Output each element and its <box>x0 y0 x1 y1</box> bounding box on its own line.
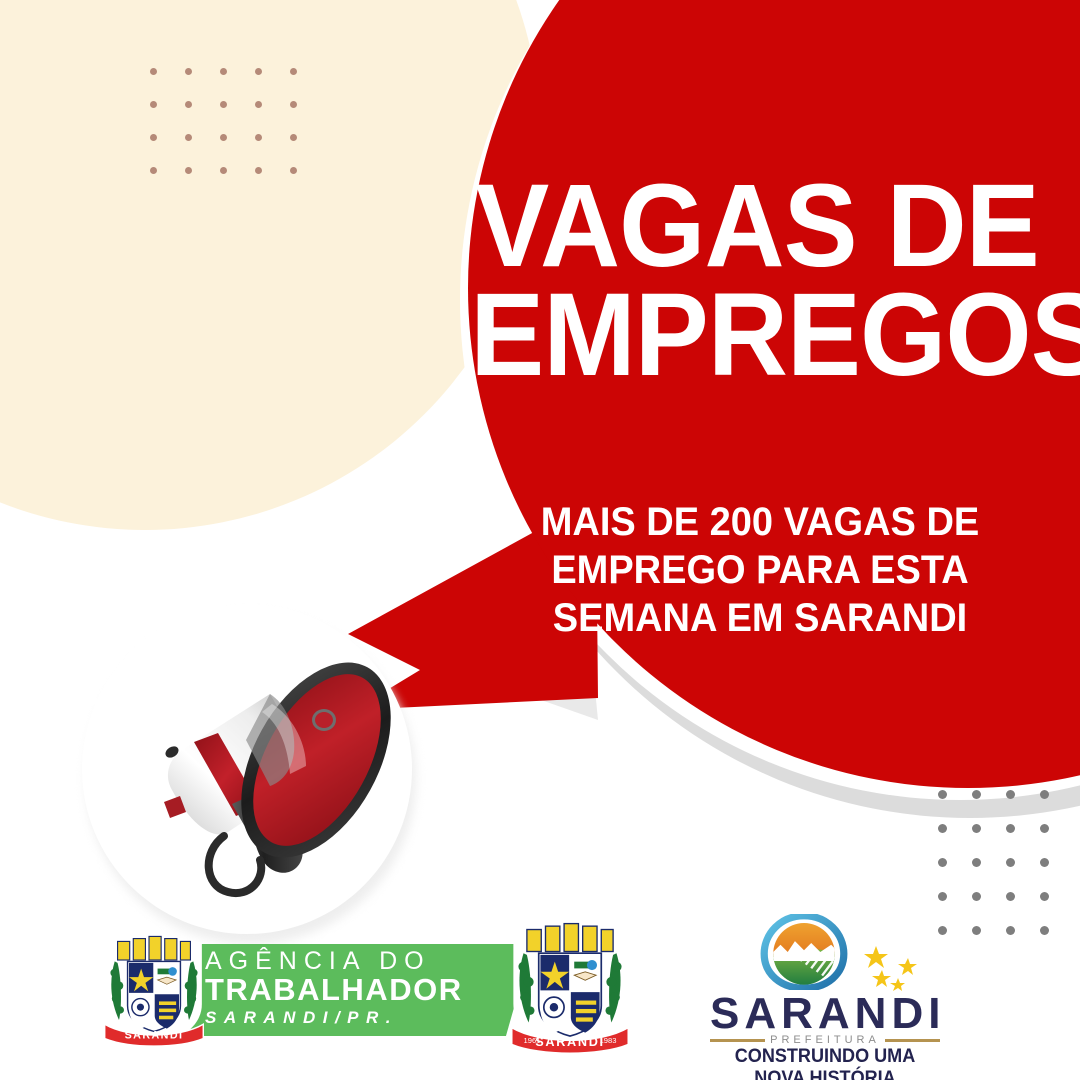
subhead-line-3: SEMANA EM SARANDI <box>485 594 1036 642</box>
dot <box>972 858 981 867</box>
dot <box>185 167 192 174</box>
sarandi-coat-of-arms-icon: 1961 1983 SARANDI <box>495 916 645 1058</box>
dot <box>1006 824 1015 833</box>
prefeitura-kicker-row: PREFEITURA <box>710 1034 940 1046</box>
logo-prefeitura-sarandi: SARANDI PREFEITURA CONSTRUINDO UMA NOVA … <box>710 914 950 1064</box>
subhead-line-2: EMPREGO PARA ESTA <box>485 546 1036 594</box>
dot <box>220 101 227 108</box>
dot <box>150 134 157 141</box>
prefeitura-slogan: CONSTRUINDO UMA NOVA HISTÓRIA <box>716 1046 935 1080</box>
dot <box>290 101 297 108</box>
dot <box>185 101 192 108</box>
dot <box>938 858 947 867</box>
poster-canvas: VAGAS DE EMPREGOS MAIS DE 200 VAGAS DE E… <box>0 0 1080 1080</box>
dot <box>972 824 981 833</box>
four-stars-decoration <box>860 944 930 994</box>
megaphone-icon <box>120 620 420 910</box>
poster-headline: VAGAS DE EMPREGOS <box>470 172 1043 389</box>
gold-rule-right <box>885 1039 940 1042</box>
dot <box>1006 858 1015 867</box>
dot <box>938 790 947 799</box>
dot-grid-top-left <box>150 68 325 200</box>
dot <box>1040 790 1049 799</box>
dot <box>290 134 297 141</box>
poster-subheadline: MAIS DE 200 VAGAS DE EMPREGO PARA ESTA S… <box>485 498 1036 642</box>
crest-ribbon-label: SARANDI <box>535 1035 605 1049</box>
dot <box>290 68 297 75</box>
sarandi-coat-of-arms-icon: SARANDI <box>100 930 208 1050</box>
agencia-text-block: AGÊNCIA DO TRABALHADOR SARANDI/PR. <box>205 948 525 1028</box>
dot <box>255 134 262 141</box>
gold-rule-left <box>710 1039 765 1042</box>
dot <box>150 167 157 174</box>
dot <box>1040 824 1049 833</box>
logo-agencia-do-trabalhador: SARANDI AGÊNCIA DO TRABALHADOR SARANDI/P… <box>100 930 440 1050</box>
dot <box>255 68 262 75</box>
agencia-line-2: TRABALHADOR <box>205 974 525 1007</box>
dot <box>290 167 297 174</box>
dot <box>150 101 157 108</box>
subhead-line-1: MAIS DE 200 VAGAS DE <box>485 498 1036 546</box>
dot <box>150 68 157 75</box>
crest-ribbon-label: SARANDI <box>125 1030 184 1042</box>
dot <box>938 824 947 833</box>
dot <box>255 167 262 174</box>
sarandi-circular-emblem-icon <box>758 914 850 990</box>
dot <box>972 790 981 799</box>
logo-brasao-sarandi: 1961 1983 SARANDI <box>495 916 645 1058</box>
dot <box>185 134 192 141</box>
dot <box>1006 790 1015 799</box>
headline-line-2: EMPREGOS <box>470 281 1043 390</box>
dot <box>220 167 227 174</box>
dot <box>255 101 262 108</box>
dot <box>220 68 227 75</box>
prefeitura-kicker: PREFEITURA <box>770 1034 880 1046</box>
dot <box>1040 858 1049 867</box>
footer-logos: SARANDI AGÊNCIA DO TRABALHADOR SARANDI/P… <box>0 900 1080 1080</box>
dot <box>220 134 227 141</box>
prefeitura-wordmark: SARANDI <box>710 992 940 1036</box>
agencia-line-1: AGÊNCIA DO <box>205 948 525 974</box>
agencia-line-3: SARANDI/PR. <box>205 1007 525 1028</box>
dot <box>185 68 192 75</box>
